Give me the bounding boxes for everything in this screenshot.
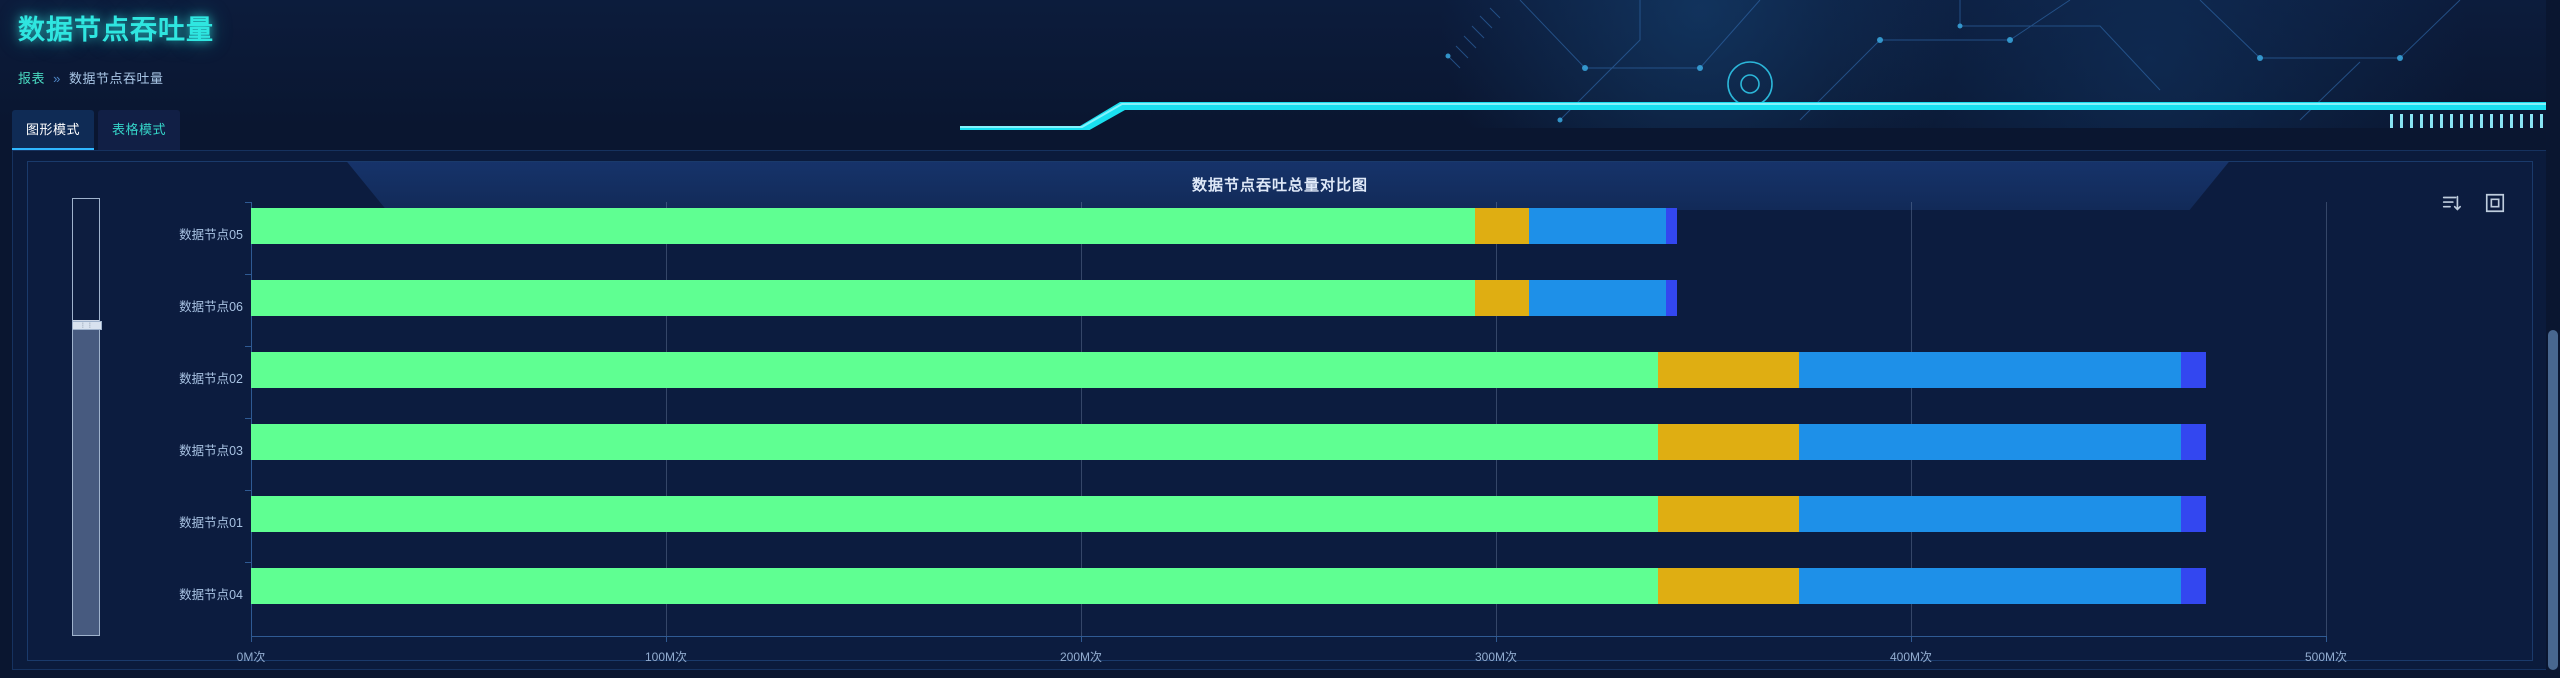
bar-segment-delete[interactable] [2181, 424, 2206, 460]
ytick-3 [245, 418, 251, 419]
chart-panel: 数据节点吞吐总量对比图 SELECT [12, 150, 2548, 670]
view-mode-tabs: 图形模式 表格模式 [12, 110, 180, 150]
breadcrumb: 报表 » 数据节点吞吐量 [18, 68, 164, 87]
page-scrollbar-thumb[interactable] [2548, 330, 2558, 670]
page-title: 数据节点吞吐量 [18, 8, 214, 47]
ytick-label-node04: 数据节点04 [98, 584, 243, 603]
xtick-100 [666, 636, 667, 642]
xtick-label-300: 300M次 [1475, 648, 1517, 665]
bar-segment-delete[interactable] [2181, 496, 2206, 532]
bar-row[interactable] [251, 280, 2326, 316]
ytick-label-node06: 数据节点06 [98, 296, 243, 315]
bar-segment-select[interactable] [251, 280, 1475, 316]
xtick-label-200: 200M次 [1060, 648, 1102, 665]
breadcrumb-separator: » [53, 71, 61, 86]
gridline-500m [2326, 202, 2327, 636]
xtick-label-100: 100M次 [645, 648, 687, 665]
bar-segment-delete[interactable] [2181, 352, 2206, 388]
ytick-1 [245, 274, 251, 275]
bar-row[interactable] [251, 568, 2326, 604]
chart-container: 数据节点吞吐总量对比图 SELECT [27, 161, 2533, 661]
datazoom-selected-range[interactable] [73, 320, 99, 635]
bar-segment-insert[interactable] [1658, 496, 1799, 532]
bar-row[interactable] [251, 352, 2326, 388]
bar-segment-select[interactable] [251, 424, 1658, 460]
ytick-5 [245, 562, 251, 563]
breadcrumb-current: 数据节点吞吐量 [69, 71, 164, 86]
tab-graph-mode[interactable]: 图形模式 [12, 110, 94, 150]
bar-segment-select[interactable] [251, 568, 1658, 604]
bar-segment-update[interactable] [1799, 352, 2181, 388]
datazoom-handle-top[interactable]: ⋮⋮ [72, 321, 102, 330]
bar-segment-insert[interactable] [1658, 568, 1799, 604]
xtick-label-400: 400M次 [1890, 648, 1932, 665]
ytick-0 [245, 202, 251, 203]
bar-segment-update[interactable] [1799, 424, 2181, 460]
bar-segment-update[interactable] [1799, 568, 2181, 604]
page-scrollbar[interactable] [2546, 0, 2560, 678]
x-axis-line [251, 636, 2326, 637]
bar-segment-update[interactable] [1529, 208, 1666, 244]
ytick-label-node05: 数据节点05 [98, 224, 243, 243]
bar-segment-select[interactable] [251, 208, 1475, 244]
bar-segment-select[interactable] [251, 352, 1658, 388]
bar-segment-delete[interactable] [1666, 208, 1676, 244]
xtick-0 [251, 636, 252, 642]
bar-segment-delete[interactable] [1666, 280, 1676, 316]
tab-table-mode[interactable]: 表格模式 [98, 110, 180, 150]
xtick-label-0: 0M次 [237, 648, 266, 665]
header-neon-swoosh [960, 96, 2560, 130]
vertical-datazoom-slider[interactable]: ⋮⋮ [72, 198, 100, 636]
bar-segment-insert[interactable] [1658, 424, 1799, 460]
bar-row[interactable] [251, 424, 2326, 460]
bar-segment-insert[interactable] [1475, 280, 1529, 316]
bar-segment-update[interactable] [1799, 496, 2181, 532]
bar-segment-update[interactable] [1529, 280, 1666, 316]
bar-segment-select[interactable] [251, 496, 1658, 532]
ytick-label-node01: 数据节点01 [98, 512, 243, 531]
xtick-200 [1081, 636, 1082, 642]
breadcrumb-root[interactable]: 报表 [18, 71, 45, 86]
xtick-300 [1496, 636, 1497, 642]
bar-segment-insert[interactable] [1658, 352, 1799, 388]
ytick-label-node02: 数据节点02 [98, 368, 243, 387]
plot-area: ⋮⋮ 0M次 100M次 200M次 300M次 400M次 500M次 [28, 162, 2534, 662]
bar-segment-delete[interactable] [2181, 568, 2206, 604]
bar-row[interactable] [251, 496, 2326, 532]
bar-segment-insert[interactable] [1475, 208, 1529, 244]
xtick-label-500: 500M次 [2305, 648, 2347, 665]
bar-row[interactable] [251, 208, 2326, 244]
ytick-4 [245, 490, 251, 491]
xtick-500 [2326, 636, 2327, 642]
xtick-400 [1911, 636, 1912, 642]
ytick-label-node03: 数据节点03 [98, 440, 243, 459]
ytick-2 [245, 346, 251, 347]
